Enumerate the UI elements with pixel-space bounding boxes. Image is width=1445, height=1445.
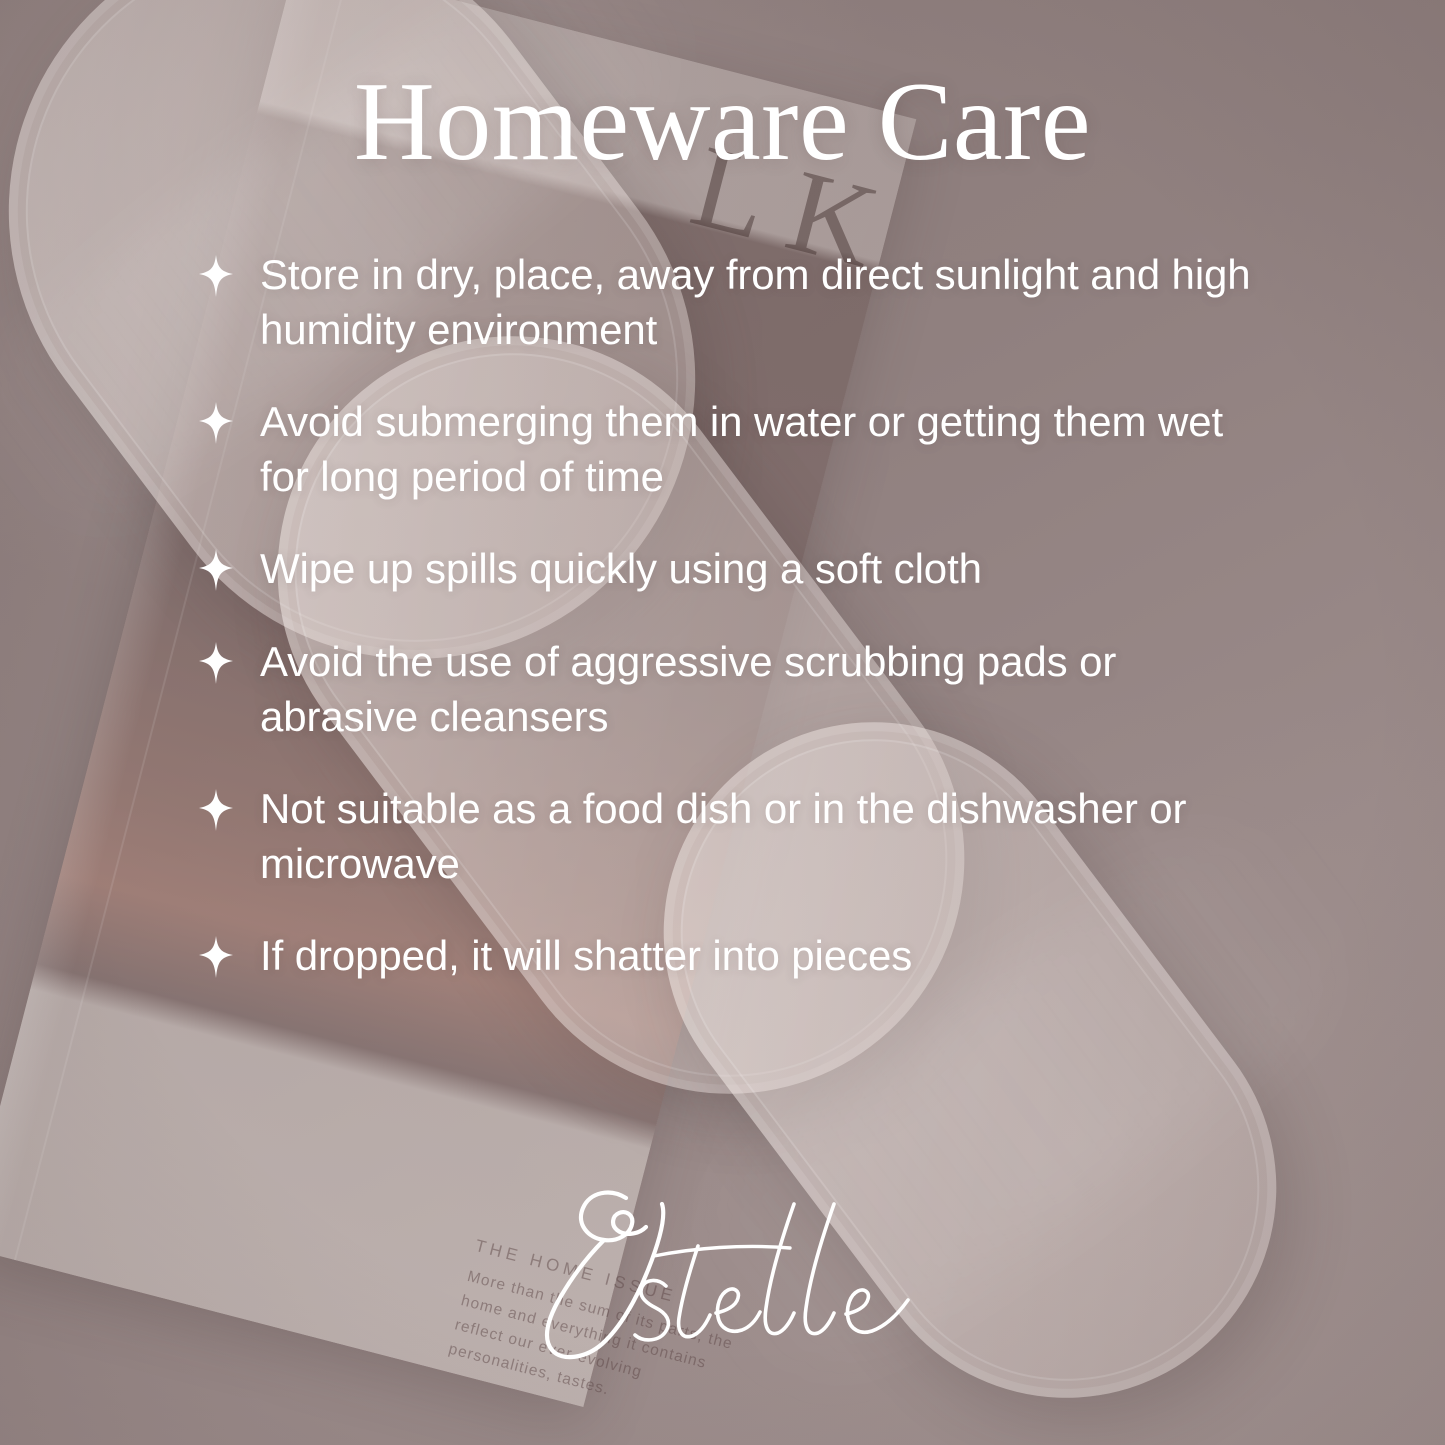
poster-content: Homeware Care Store in dry, place, away … [0,0,1445,1445]
sparkle-icon [196,401,236,445]
list-item-label: Avoid the use of aggressive scrubbing pa… [260,635,1260,744]
list-item: Store in dry, place, away from direct su… [196,248,1286,357]
sparkle-icon [196,548,236,592]
list-item-label: If dropped, it will shatter into pieces [260,929,912,984]
sparkle-icon [196,788,236,832]
list-item-label: Wipe up spills quickly using a soft clot… [260,542,982,597]
page-title: Homeware Care [0,62,1445,183]
poster-canvas: LK THE HOME ISSUE More than the sum of i… [0,0,1445,1445]
sparkle-icon [196,641,236,685]
sparkle-icon [196,254,236,298]
sparkle-icon [196,935,236,979]
list-item-label: Store in dry, place, away from direct su… [260,248,1260,357]
list-item-label: Avoid submerging them in water or gettin… [260,395,1260,504]
list-item: Avoid submerging them in water or gettin… [196,395,1286,504]
list-item: Avoid the use of aggressive scrubbing pa… [196,635,1286,744]
list-item: If dropped, it will shatter into pieces [196,929,1286,984]
list-item: Wipe up spills quickly using a soft clot… [196,542,1286,597]
list-item-label: Not suitable as a food dish or in the di… [260,782,1260,891]
list-item: Not suitable as a food dish or in the di… [196,782,1286,891]
brand-signature-logo: Estelle [494,1182,934,1372]
care-instructions-list: Store in dry, place, away from direct su… [196,248,1286,984]
